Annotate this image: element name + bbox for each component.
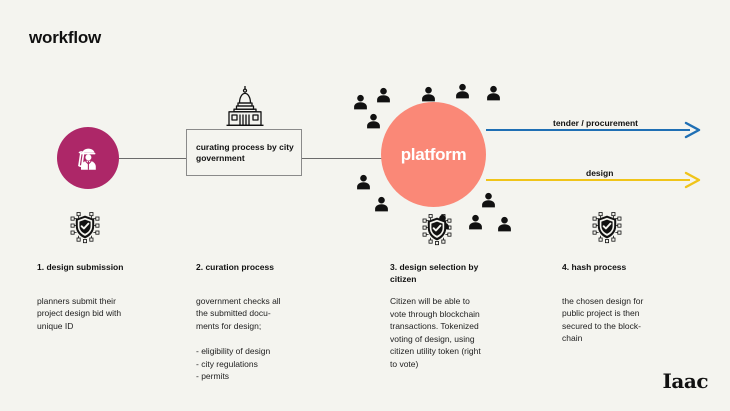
person-icon [376,87,391,104]
design-label: design [586,168,613,178]
person-icon [421,86,436,103]
construction-worker-icon [68,138,108,178]
connector-line-actor-to-curation [119,158,186,159]
tender-procurement-label: tender / procurement [553,118,638,128]
person-icon [486,85,501,102]
platform-label: platform [401,145,467,165]
person-icon [497,216,512,233]
curating-process-label: curating process by city government [187,142,301,164]
capitol-building-icon [219,84,271,135]
platform-node[interactable]: platform [381,102,486,207]
step-heading: 3. design selection by citizen [390,262,520,285]
person-icon [481,192,496,209]
design-submitter-actor[interactable] [57,127,119,189]
hash-shield-icon [590,210,624,244]
step-body: government checks all the submitted docu… [196,295,326,333]
step-column-1: 1. design submission planners submit the… [37,262,167,345]
step-heading: 1. design submission [37,262,167,274]
step-column-3: 3. design selection by citizen Citizen w… [390,262,520,383]
step-column-4: 4. hash process the chosen design for pu… [562,262,692,358]
workflow-diagram-canvas: workflow [0,0,730,411]
step-body: Citizen will be able to vote through blo… [390,295,520,370]
hash-shield-icon [68,210,102,244]
step-bullets: - eligibility of design - city regulatio… [196,345,326,383]
step-heading: 4. hash process [562,262,692,274]
step-column-2: 2. curation process government checks al… [196,262,326,383]
connector-line-curation-to-platform [302,158,387,159]
person-icon [374,196,389,213]
person-icon [353,94,368,111]
curating-process-box[interactable]: curating process by city government [186,129,302,176]
step-body: the chosen design for public project is … [562,295,692,345]
step-body: planners submit their project design bid… [37,295,167,333]
step-heading: 2. curation process [196,262,326,274]
page-title: workflow [29,28,101,48]
hash-shield-icon [420,212,454,246]
iaac-logo: Iaac [663,369,708,393]
person-icon [455,83,470,100]
person-icon [366,113,381,130]
person-icon [356,174,371,191]
person-icon [468,214,483,231]
